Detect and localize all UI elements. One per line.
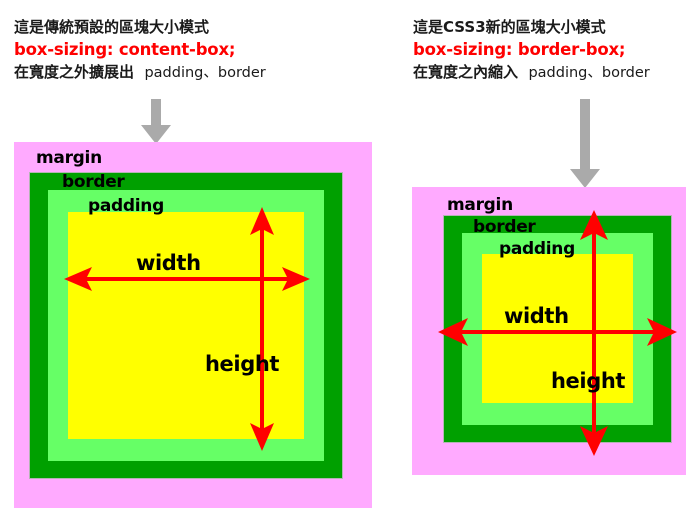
label-border-left: border	[62, 172, 125, 192]
caption-line-1: 這是傳統預設的區塊大小模式	[14, 17, 266, 38]
caption-line-3-tail: padding、border	[144, 65, 265, 81]
caption-line-3-head: 在寬度之內縮入	[413, 63, 518, 81]
caption-line-1: 這是CSS3新的區塊大小模式	[413, 17, 650, 38]
caption-code-content-box: box-sizing: content-box;	[14, 38, 266, 63]
content-box-content-box	[68, 212, 304, 439]
label-margin-left: margin	[36, 148, 102, 168]
caption-content-box: 這是傳統預設的區塊大小模式 box-sizing: content-box; 在…	[14, 17, 266, 83]
caption-line-3: 在寬度之外擴展出 padding、border	[14, 62, 266, 83]
label-border-right: border	[473, 217, 536, 237]
label-width-left: width	[136, 251, 201, 275]
caption-border-box: 這是CSS3新的區塊大小模式 box-sizing: border-box; 在…	[413, 17, 650, 83]
caption-code-border-box: box-sizing: border-box;	[413, 38, 650, 63]
label-width-right: width	[504, 304, 569, 328]
label-padding-right: padding	[499, 239, 575, 259]
grey-down-arrow-icon	[567, 99, 603, 189]
caption-line-3-tail: padding、border	[528, 65, 649, 81]
label-padding-left: padding	[88, 196, 164, 216]
label-height-right: height	[551, 369, 625, 393]
label-margin-right: margin	[447, 195, 513, 215]
caption-line-3: 在寬度之內縮入 padding、border	[413, 62, 650, 83]
label-height-left: height	[205, 352, 279, 376]
grey-down-arrow-icon	[138, 99, 174, 145]
caption-line-3-head: 在寬度之外擴展出	[14, 63, 134, 81]
